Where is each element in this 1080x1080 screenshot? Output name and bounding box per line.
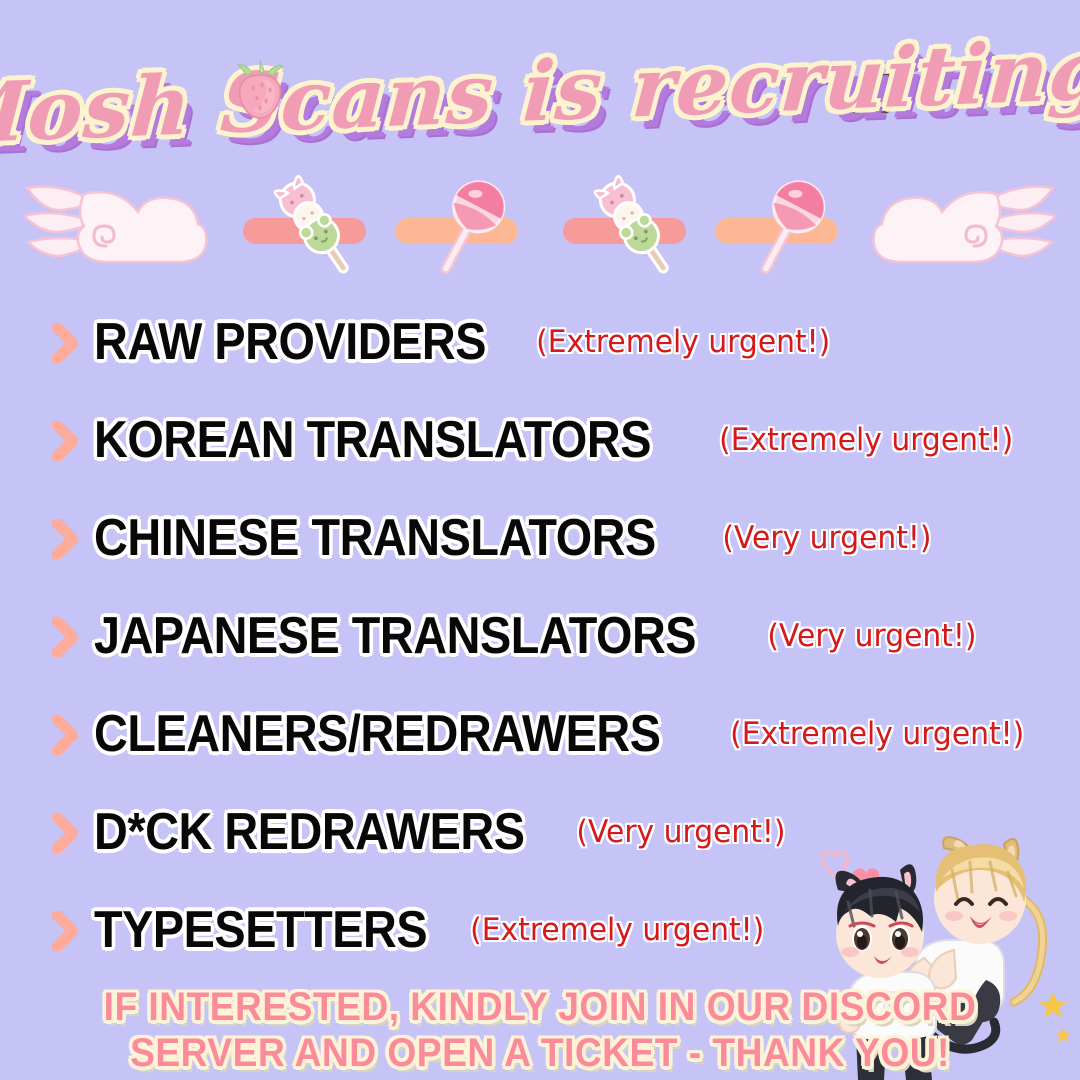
chevron-right-icon: [52, 813, 78, 853]
lollipop-icon: [422, 174, 512, 284]
role-urgency: (Extremely urgent!): [719, 422, 1013, 458]
list-item: RAW PROVIDERS (Extremely urgent!): [0, 293, 1080, 391]
role-title: KOREAN TRANSLATORS: [94, 410, 651, 470]
list-item: JAPANESE TRANSLATORS (Very urgent!): [0, 587, 1080, 685]
chevron-right-icon: [52, 617, 78, 657]
role-title: CHINESE TRANSLATORS: [94, 508, 656, 568]
role-urgency: (Extremely urgent!): [536, 324, 830, 360]
chevron-right-icon: [52, 421, 78, 461]
role-urgency: (Very urgent!): [577, 814, 786, 850]
page-title: Mosh Scans is recruiting!: [0, 21, 1080, 164]
chevron-right-icon: [52, 715, 78, 755]
role-title: JAPANESE TRANSLATORS: [94, 606, 696, 666]
footer-line-1: IF INTERESTED, KINDLY JOIN IN OUR DISCOR…: [38, 984, 1042, 1030]
role-title: TYPESETTERS: [94, 900, 427, 960]
dango-icon: [272, 174, 362, 284]
winged-cloud-icon: [868, 168, 1058, 278]
dango-icon: [592, 174, 682, 284]
role-urgency: (Extremely urgent!): [730, 716, 1024, 752]
chevron-right-icon: [52, 911, 78, 951]
footer-line-2: SERVER AND OPEN A TICKET - THANK YOU!: [38, 1030, 1042, 1076]
list-item: CHINESE TRANSLATORS (Very urgent!): [0, 489, 1080, 587]
list-item: KOREAN TRANSLATORS (Extremely urgent!): [0, 391, 1080, 489]
list-item: CLEANERS/REDRAWERS (Extremely urgent!): [0, 685, 1080, 783]
role-urgency: (Extremely urgent!): [470, 912, 764, 948]
lollipop-icon: [742, 174, 832, 284]
role-urgency: (Very urgent!): [723, 520, 932, 556]
role-urgency: (Very urgent!): [767, 618, 976, 654]
strawberry-icon: [232, 60, 288, 122]
role-title: RAW PROVIDERS: [94, 312, 486, 372]
poster-header: Mosh Scans is recruiting!: [0, 22, 1080, 162]
footer-cta: IF INTERESTED, KINDLY JOIN IN OUR DISCOR…: [0, 984, 1080, 1076]
role-title: D*CK REDRAWERS: [94, 802, 525, 862]
chevron-right-icon: [52, 519, 78, 559]
role-title: CLEANERS/REDRAWERS: [94, 704, 661, 764]
chevron-right-icon: [52, 323, 78, 363]
decorative-divider: [0, 160, 1080, 285]
winged-cloud-icon: [22, 168, 212, 278]
